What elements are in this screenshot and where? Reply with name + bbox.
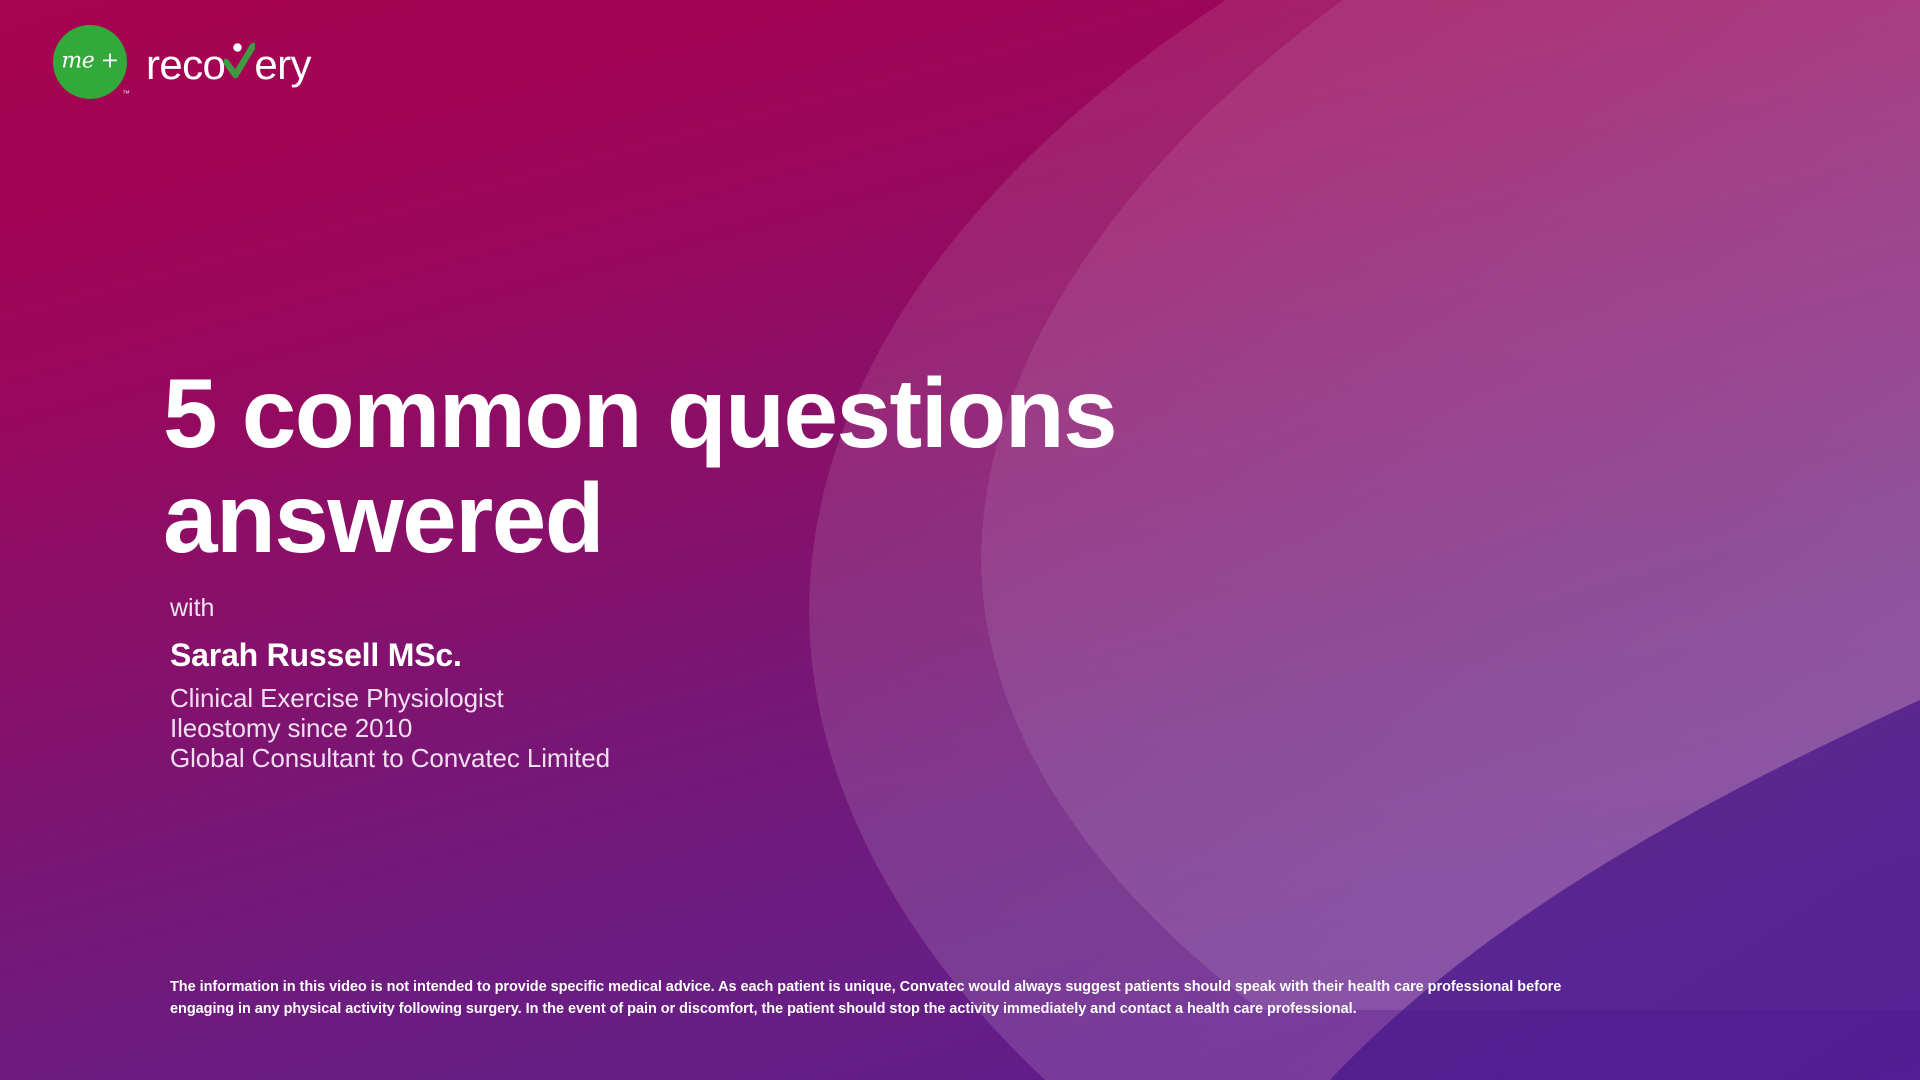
presenter-credential-3: Global Consultant to Convatec Limited bbox=[170, 743, 610, 773]
trademark-symbol: ™ bbox=[122, 90, 130, 98]
title-slide: me + ™ reco ery 5 common questions answe… bbox=[0, 0, 1920, 1080]
green-check-icon bbox=[224, 42, 255, 82]
presenter-name: Sarah Russell MSc. bbox=[170, 635, 610, 675]
presenter-with-label: with bbox=[170, 592, 610, 626]
curve-corner-sweep bbox=[1330, 700, 1920, 1080]
presenter-credential-2: Ileostomy since 2010 bbox=[170, 713, 610, 743]
me-plus-logo-text: me + bbox=[53, 51, 127, 73]
slide-title: 5 common questions answered bbox=[163, 361, 1263, 573]
brand-logo: me + ™ reco ery bbox=[53, 25, 311, 99]
wordmark-segment-a: reco bbox=[146, 44, 225, 86]
me-plus-logo-mark: me + ™ bbox=[53, 25, 127, 99]
recovery-wordmark: reco ery bbox=[146, 39, 311, 86]
wordmark-segment-b: ery bbox=[254, 44, 311, 86]
presenter-block: with Sarah Russell MSc. Clinical Exercis… bbox=[170, 592, 610, 773]
medical-disclaimer: The information in this video is not int… bbox=[170, 976, 1600, 1020]
presenter-credential-1: Clinical Exercise Physiologist bbox=[170, 683, 610, 713]
